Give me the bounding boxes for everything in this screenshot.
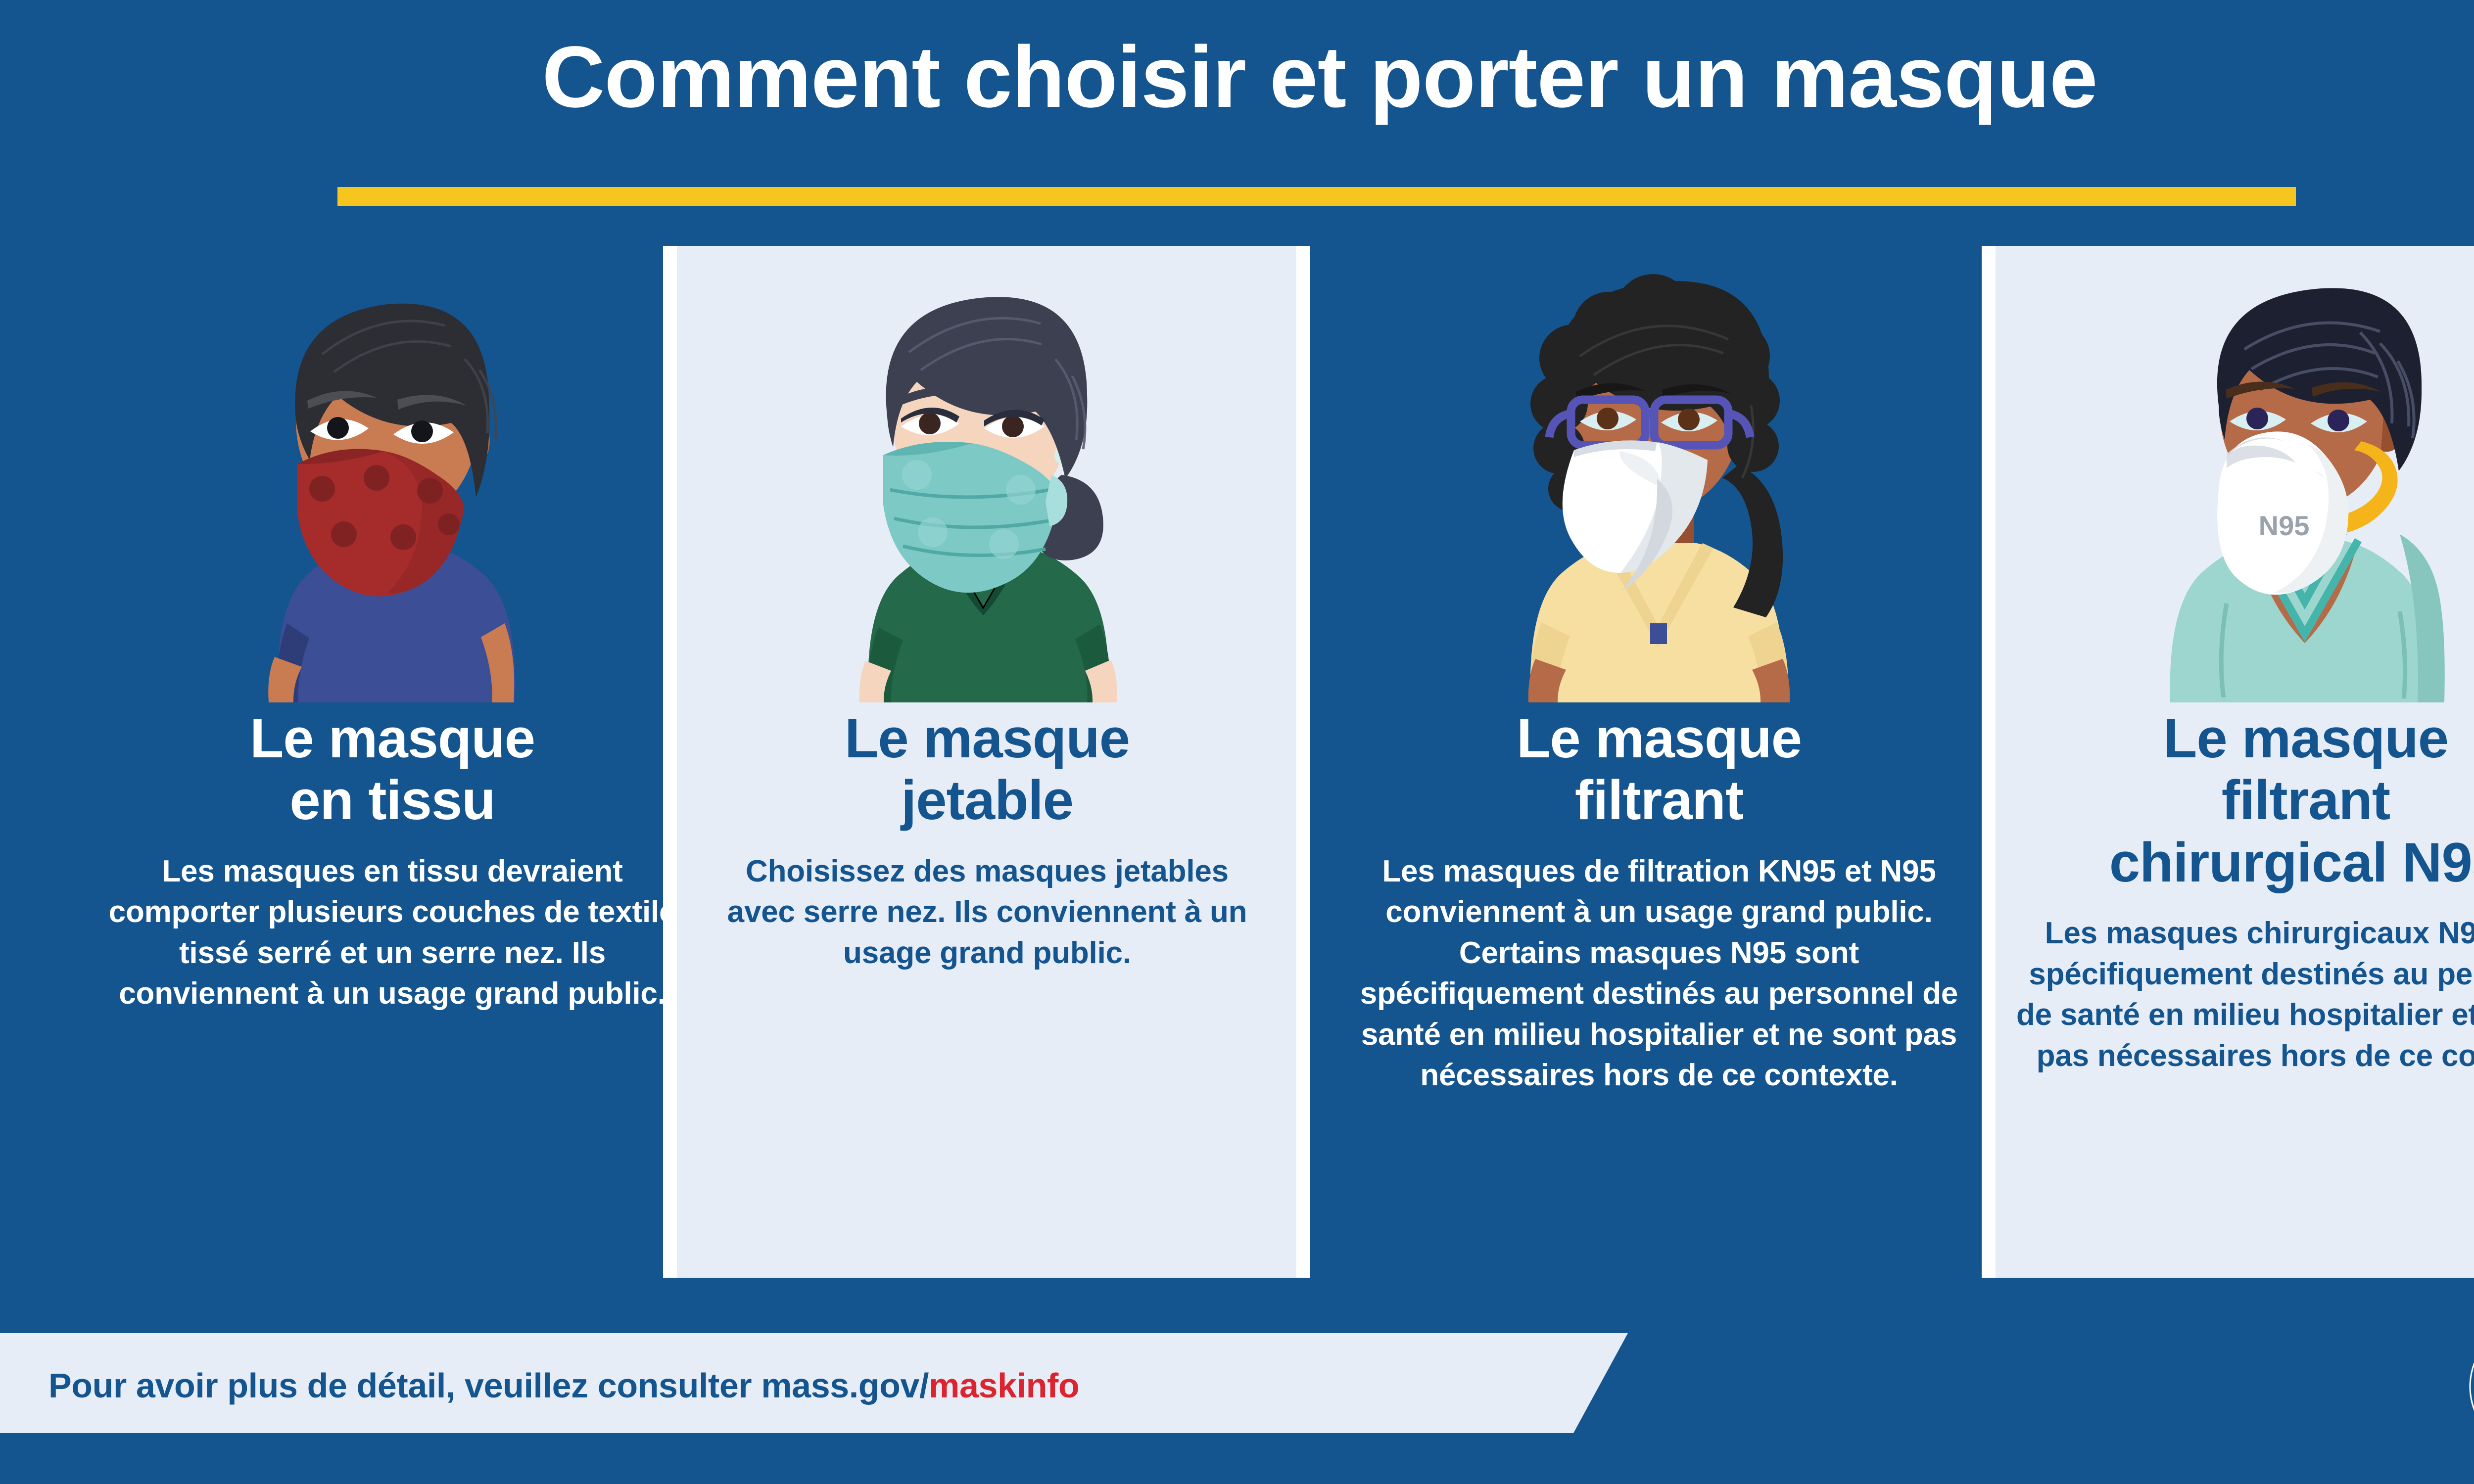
column-body-cloth: Les masques en tissu devraient comporter…	[69, 851, 715, 1015]
footer-text-accent: maskinfo	[929, 1366, 1079, 1405]
column-heading-filtering: Le masque filtrant	[1336, 707, 1982, 832]
column-body-surgical-n95: Les masques chirurgicaux N95 sont spécif…	[1983, 913, 2474, 1076]
infographic-poster: Comment choisir et porter un masque	[0, 0, 2474, 1484]
mask-label-n95: N95	[2259, 510, 2310, 541]
column-cloth-mask: Le masque en tissu Les masques en tissu …	[69, 237, 715, 1015]
column-heading-surgical-n95: Le masque filtrant chirurgical N95	[1983, 707, 2474, 893]
title-underline-rule	[337, 187, 2296, 206]
illustration-person-disposable-mask	[664, 237, 1310, 702]
page-title: Comment choisir et porter un masque	[0, 34, 2474, 121]
footer-text-prefix: Pour avoir plus de détail, veuillez cons…	[48, 1366, 929, 1405]
column-heading-cloth: Le masque en tissu	[69, 707, 715, 832]
column-disposable-mask: Le masque jetable Choisissez des masques…	[664, 237, 1310, 974]
column-body-disposable: Choisissez des masques jetables avec ser…	[664, 851, 1310, 974]
illustration-person-n95-respirator: N95	[1983, 237, 2474, 702]
column-body-filtering: Les masques de filtration KN95 et N95 co…	[1336, 851, 1982, 1096]
illustration-person-cloth-mask	[69, 237, 715, 702]
column-surgical-n95: N95 Le masque filtrant chirurgical N95 L…	[1983, 237, 2474, 1076]
illustration-person-kn95-mask	[1336, 237, 1982, 702]
massachusetts-state-seal-icon: SIGILLUM REIPUBLICÆ MASSACHUSETTENSIS	[2468, 1320, 2474, 1453]
column-heading-disposable: Le masque jetable	[664, 707, 1310, 832]
column-filtering-mask: Le masque filtrant Les masques de filtra…	[1336, 237, 1982, 1096]
footer-link-text[interactable]: Pour avoir plus de détail, veuillez cons…	[48, 1366, 1079, 1405]
